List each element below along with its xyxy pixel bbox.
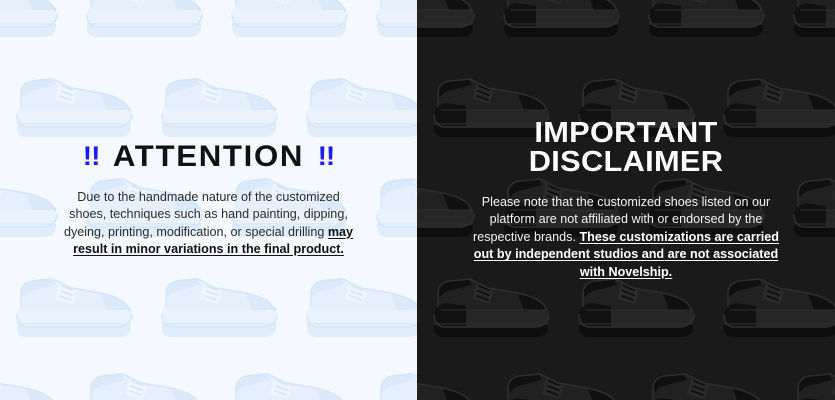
attention-heading: !!ATTENTION!!	[10, 142, 406, 172]
dual-panel-banner: !!ATTENTION!! Due to the handmade nature…	[0, 0, 835, 400]
attention-body: Due to the handmade nature of the custom…	[59, 189, 359, 259]
disclaimer-heading: IMPORTANT DISCLAIMER	[424, 119, 829, 178]
attention-title: ATTENTION	[113, 140, 304, 173]
exclamation-left-icon: !!	[83, 143, 100, 170]
disclaimer-heading-line1: IMPORTANT	[424, 119, 829, 149]
attention-content: !!ATTENTION!! Due to the handmade nature…	[0, 142, 417, 259]
attention-body-normal: Due to the handmade nature of the custom…	[64, 190, 348, 239]
disclaimer-heading-line2: DISCLAIMER	[424, 148, 829, 178]
disclaimer-body: Please note that the customized shoes li…	[471, 194, 781, 282]
exclamation-right-icon: !!	[318, 143, 335, 170]
disclaimer-panel: IMPORTANT DISCLAIMER Please note that th…	[417, 0, 835, 400]
attention-panel: !!ATTENTION!! Due to the handmade nature…	[0, 0, 417, 400]
disclaimer-content: IMPORTANT DISCLAIMER Please note that th…	[417, 119, 835, 282]
